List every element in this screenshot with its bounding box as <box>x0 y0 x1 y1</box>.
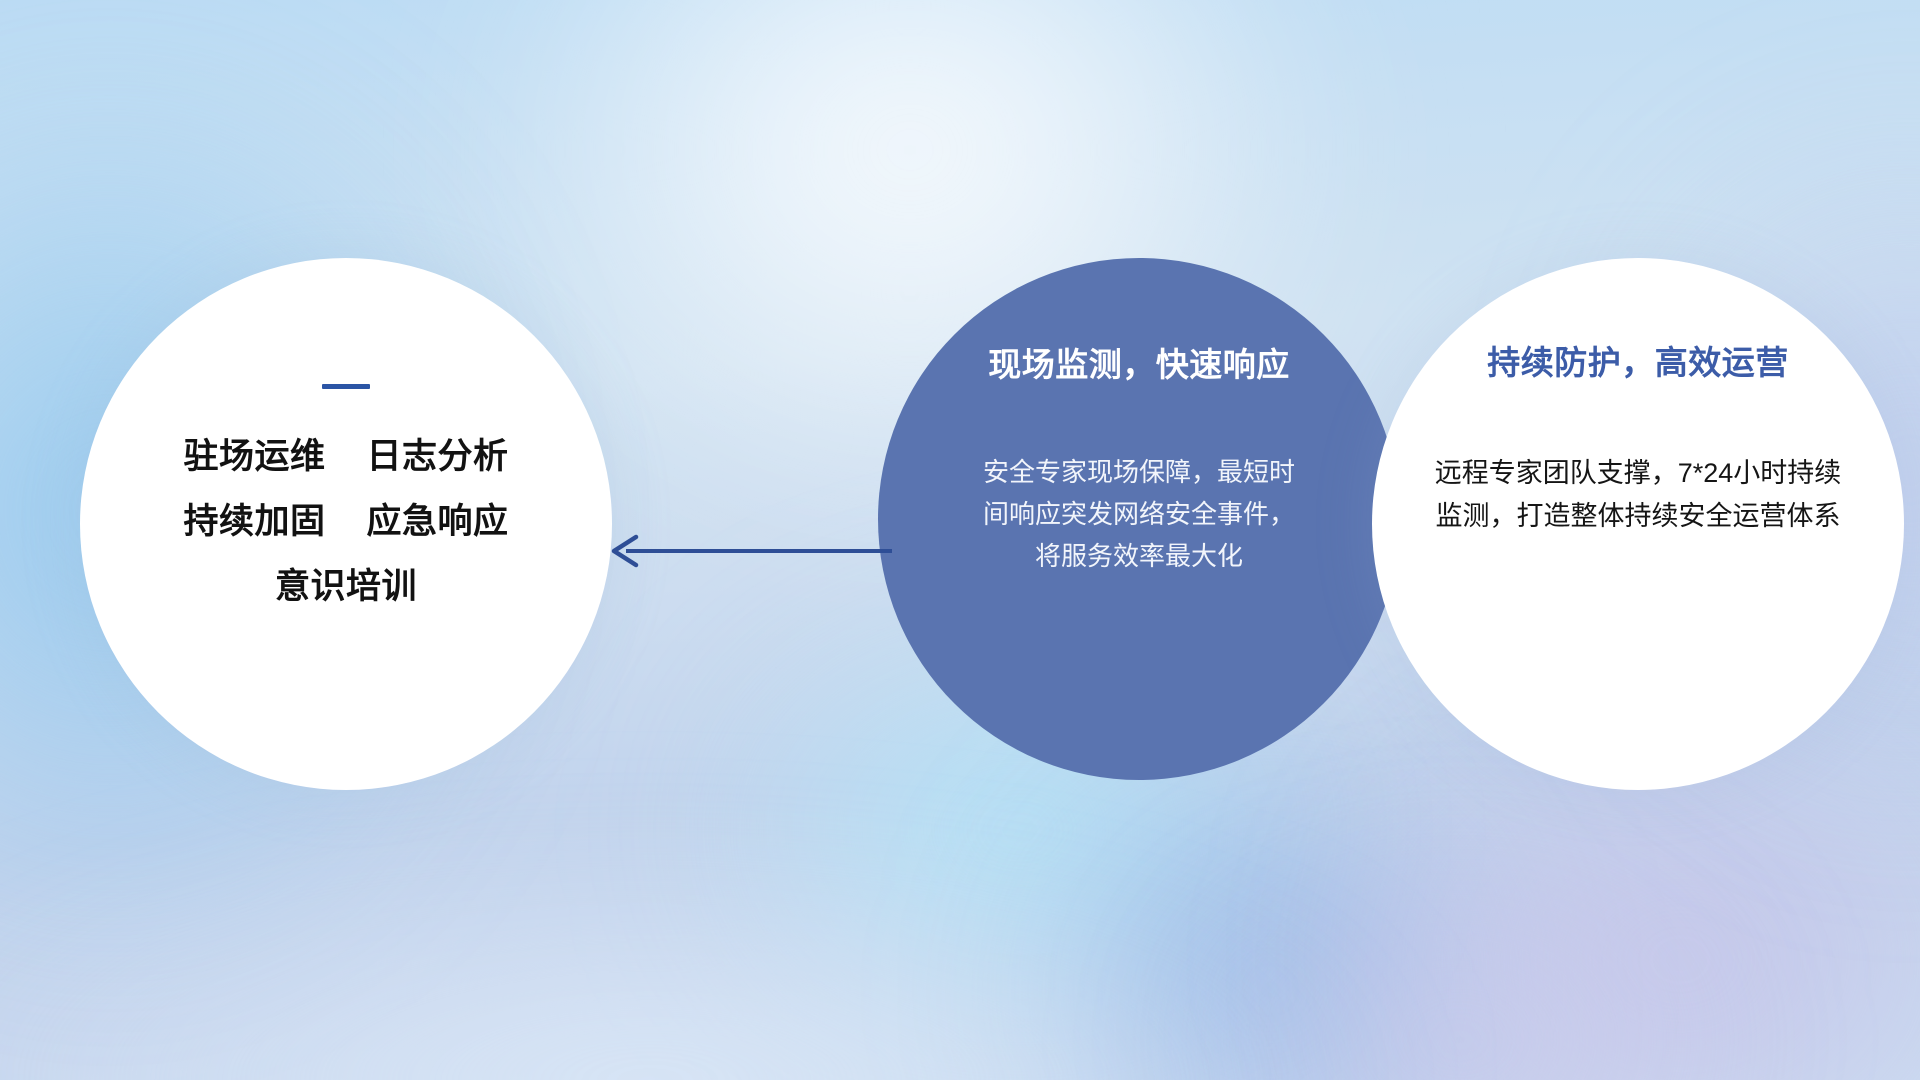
circle-middle-title: 现场监测，快速响应 <box>988 338 1290 386</box>
diagram-stage: 驻场运维 日志分析 持续加固 应急响应 意识培训 现场监测，快速响应 安全专家现… <box>0 0 1920 1080</box>
circle-right-continuous-protection[interactable]: 持续防护，高效运营 远程专家团队支撑，7*24小时持续监测，打造整体持续安全运营… <box>1372 258 1904 790</box>
circle-middle-content: 现场监测，快速响应 安全专家现场保障，最短时间响应突发网络安全事件，将服务效率最… <box>878 258 1400 780</box>
circle-left-content: 驻场运维 日志分析 持续加固 应急响应 意识培训 <box>80 258 612 790</box>
horizontal-dash-icon <box>322 384 370 389</box>
keyword-line-3: 意识培训 <box>275 569 417 604</box>
arrow-left-icon <box>596 520 896 582</box>
circle-right-body: 远程专家团队支撑，7*24小时持续监测，打造整体持续安全运营体系 <box>1428 452 1848 537</box>
circle-right-content: 持续防护，高效运营 远程专家团队支撑，7*24小时持续监测，打造整体持续安全运营… <box>1372 258 1904 790</box>
circle-left-capabilities[interactable]: 驻场运维 日志分析 持续加固 应急响应 意识培训 <box>80 258 612 790</box>
keyword-line-2: 持续加固 应急响应 <box>184 504 509 539</box>
circle-right-title: 持续防护，高效运营 <box>1487 336 1789 384</box>
circle-middle-body: 安全专家现场保障，最短时间响应突发网络安全事件，将服务效率最大化 <box>979 451 1299 577</box>
keyword-line-1: 驻场运维 日志分析 <box>184 439 509 474</box>
circle-middle-onsite-monitoring[interactable]: 现场监测，快速响应 安全专家现场保障，最短时间响应突发网络安全事件，将服务效率最… <box>878 258 1400 780</box>
